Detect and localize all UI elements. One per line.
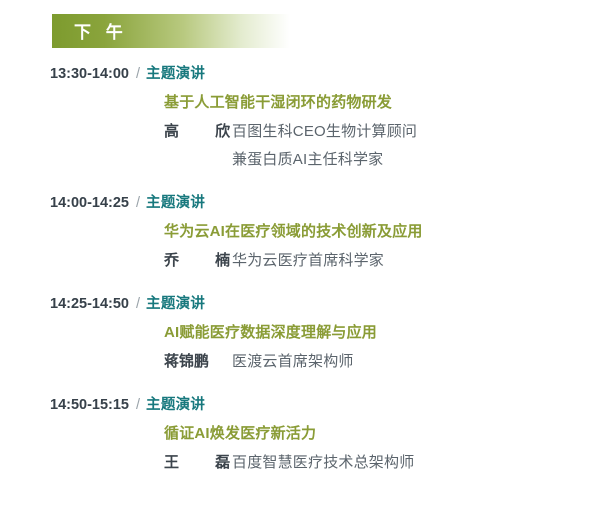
speaker-affiliation: 百图生科CEO生物计算顾问 [232,120,417,141]
session-item: 14:00-14:25 / 主题演讲 华为云AI在医疗领域的技术创新及应用 乔 … [0,191,600,270]
speaker-row: 王 磊 百度智慧医疗技术总架构师 [0,451,600,472]
session-time-row: 14:25-14:50 / 主题演讲 [0,292,600,314]
speaker-affiliation-line2: 兼蛋白质AI主任科学家 [0,148,600,169]
speaker-row: 蒋锦鹏 医渡云首席架构师 [0,350,600,371]
talk-title: 基于人工智能干湿闭环的药物研发 [0,91,600,112]
session-type-label: 主题演讲 [146,62,205,83]
session-separator: / [136,397,140,413]
talk-title: 华为云AI在医疗领域的技术创新及应用 [0,220,600,241]
session-separator: / [136,296,140,312]
session-time: 14:50-15:15 [50,397,129,413]
speaker-name: 乔 楠 [164,249,232,270]
talk-title: AI赋能医疗数据深度理解与应用 [0,321,600,342]
speaker-affiliation: 医渡云首席架构师 [232,350,354,371]
session-type-label: 主题演讲 [146,292,205,313]
session-item: 13:30-14:00 / 主题演讲 基于人工智能干湿闭环的药物研发 高 欣 百… [0,62,600,169]
speaker-name: 王 磊 [164,451,232,472]
speaker-row: 乔 楠 华为云医疗首席科学家 [0,249,600,270]
session-separator: / [136,66,140,82]
speaker-name: 高 欣 [164,120,232,141]
session-time-row: 14:00-14:25 / 主题演讲 [0,191,600,213]
speaker-row: 高 欣 百图生科CEO生物计算顾问 [0,120,600,141]
section-banner: 下 午 [52,14,290,48]
session-time: 14:25-14:50 [50,296,129,312]
session-item: 14:25-14:50 / 主题演讲 AI赋能医疗数据深度理解与应用 蒋锦鹏 医… [0,292,600,371]
session-time: 13:30-14:00 [50,66,129,82]
speaker-affiliation: 华为云医疗首席科学家 [232,249,384,270]
speaker-name: 蒋锦鹏 [164,350,232,371]
session-type-label: 主题演讲 [146,191,205,212]
talk-title: 循证AI焕发医疗新活力 [0,422,600,443]
session-time: 14:00-14:25 [50,195,129,211]
session-time-row: 13:30-14:00 / 主题演讲 [0,62,600,84]
section-banner-label: 下 午 [74,18,128,43]
session-separator: / [136,195,140,211]
session-type-label: 主题演讲 [146,393,205,414]
session-item: 14:50-15:15 / 主题演讲 循证AI焕发医疗新活力 王 磊 百度智慧医… [0,393,600,472]
session-time-row: 14:50-15:15 / 主题演讲 [0,393,600,415]
speaker-affiliation: 百度智慧医疗技术总架构师 [232,451,414,472]
session-list: 13:30-14:00 / 主题演讲 基于人工智能干湿闭环的药物研发 高 欣 百… [0,62,600,494]
